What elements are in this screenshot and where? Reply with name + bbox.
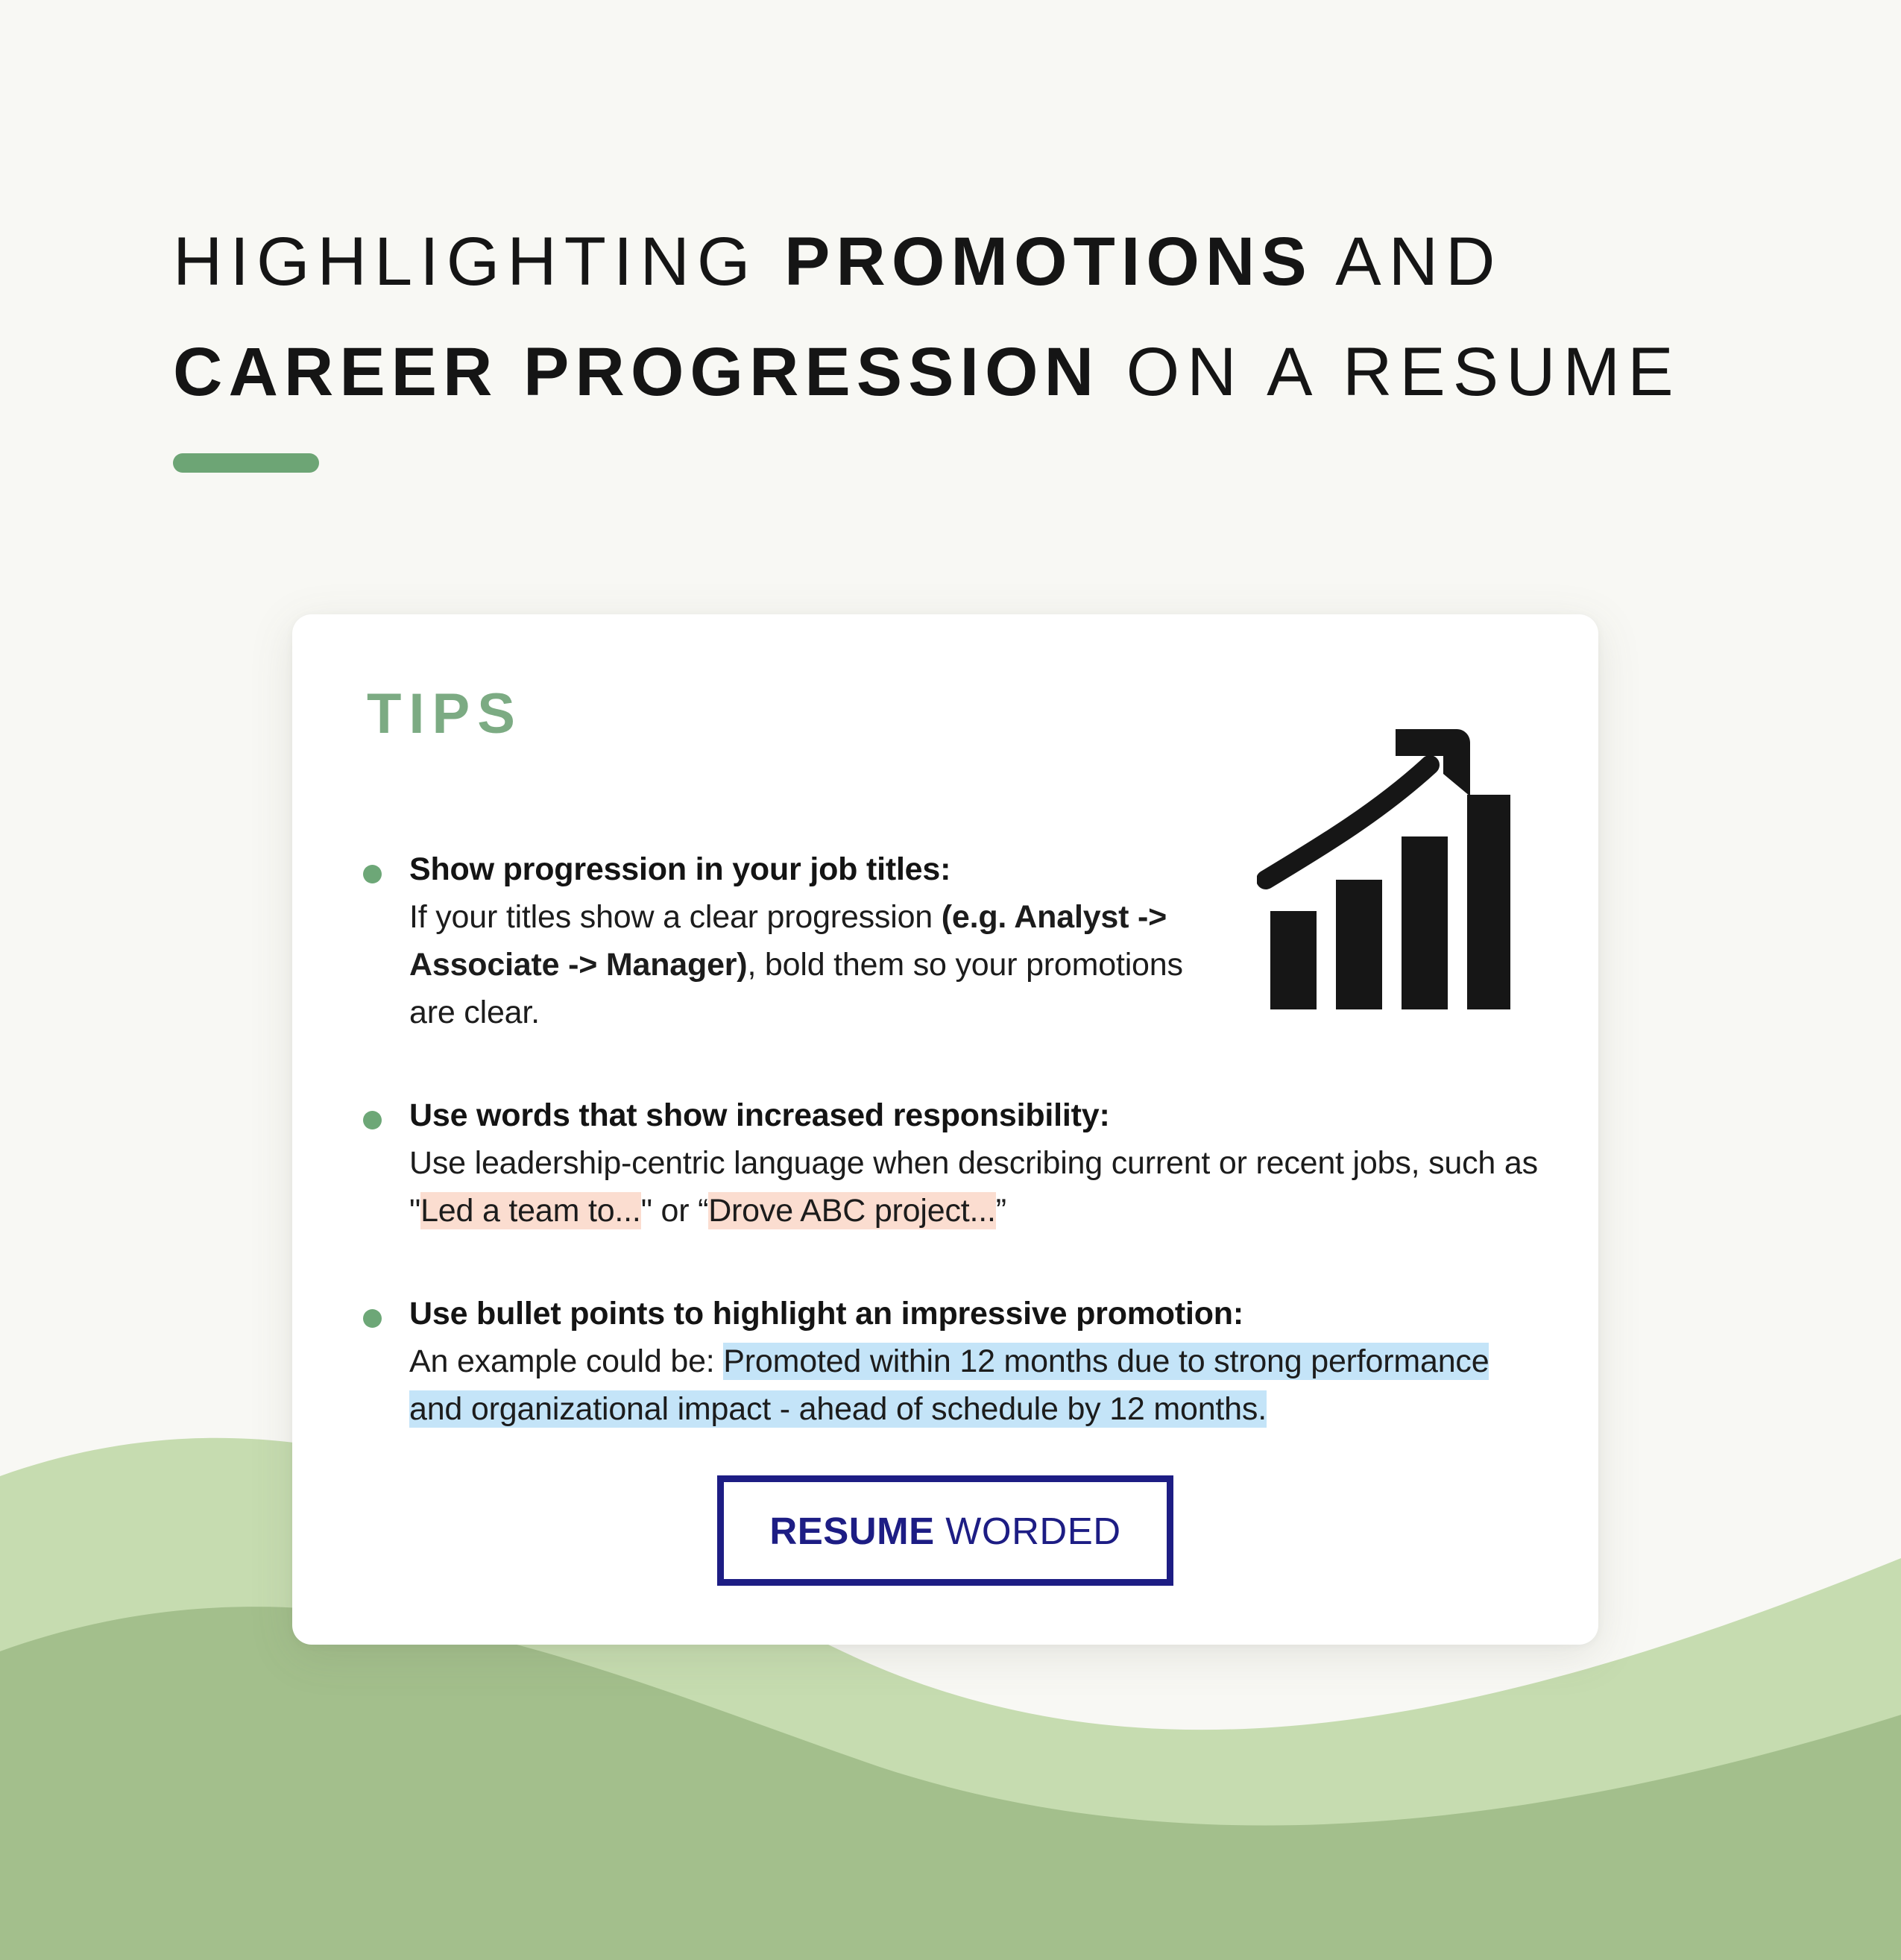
tips-card: TIPS Show progression in your job titles… xyxy=(292,614,1598,1645)
tips-heading: TIPS xyxy=(367,681,523,746)
tip-body-text: If your titles show a clear progression xyxy=(409,899,942,935)
page-title-text-highlighting: HIGHLIGHTING xyxy=(173,224,784,300)
logo-word-worded: WORDED xyxy=(935,1510,1121,1552)
tip-body-text-mid: " or “ xyxy=(641,1193,709,1229)
tip-item-job-titles: Show progression in your job titles: If … xyxy=(363,845,1548,1036)
tip-body-highlight-led-a-team: Led a team to... xyxy=(420,1192,641,1229)
tip-body-text: An example could be: xyxy=(409,1343,723,1379)
tip-body: Use leadership-centric language when des… xyxy=(409,1139,1548,1235)
resume-worded-logo-text: RESUME WORDED xyxy=(769,1509,1120,1553)
page-title-line-1: HIGHLIGHTING PROMOTIONS AND xyxy=(173,207,1753,317)
tip-title: Use bullet points to highlight an impres… xyxy=(409,1290,1548,1337)
bullet-dot-icon xyxy=(363,1111,382,1129)
tip-body: An example could be: Promoted within 12 … xyxy=(409,1337,1548,1433)
tip-title: Show progression in your job titles: xyxy=(409,845,1548,893)
tip-item-bullet-points: Use bullet points to highlight an impres… xyxy=(363,1290,1548,1433)
page-title: HIGHLIGHTING PROMOTIONS AND CAREER PROGR… xyxy=(173,207,1753,427)
page-title-text-and: AND xyxy=(1313,224,1503,300)
logo-word-resume: RESUME xyxy=(769,1510,934,1552)
page-title-text-career-progression: CAREER PROGRESSION xyxy=(173,334,1100,410)
bullet-dot-icon xyxy=(363,1309,382,1328)
title-accent-dash xyxy=(173,453,319,473)
tips-list: Show progression in your job titles: If … xyxy=(363,845,1548,1433)
resume-worded-logo-button[interactable]: RESUME WORDED xyxy=(717,1475,1173,1586)
page-title-text-promotions: PROMOTIONS xyxy=(784,224,1313,300)
page-title-text-on-a-resume: ON A RESUME xyxy=(1100,334,1681,410)
tip-body: If your titles show a clear progression … xyxy=(409,893,1199,1036)
page-title-line-2: CAREER PROGRESSION ON A RESUME xyxy=(173,317,1753,427)
tip-body-text-tail: ” xyxy=(996,1193,1006,1229)
tip-body-highlight-drove-abc-project: Drove ABC project... xyxy=(708,1192,996,1229)
tip-item-responsibility-words: Use words that show increased responsibi… xyxy=(363,1091,1548,1235)
bullet-dot-icon xyxy=(363,865,382,883)
tip-title: Use words that show increased responsibi… xyxy=(409,1091,1548,1139)
